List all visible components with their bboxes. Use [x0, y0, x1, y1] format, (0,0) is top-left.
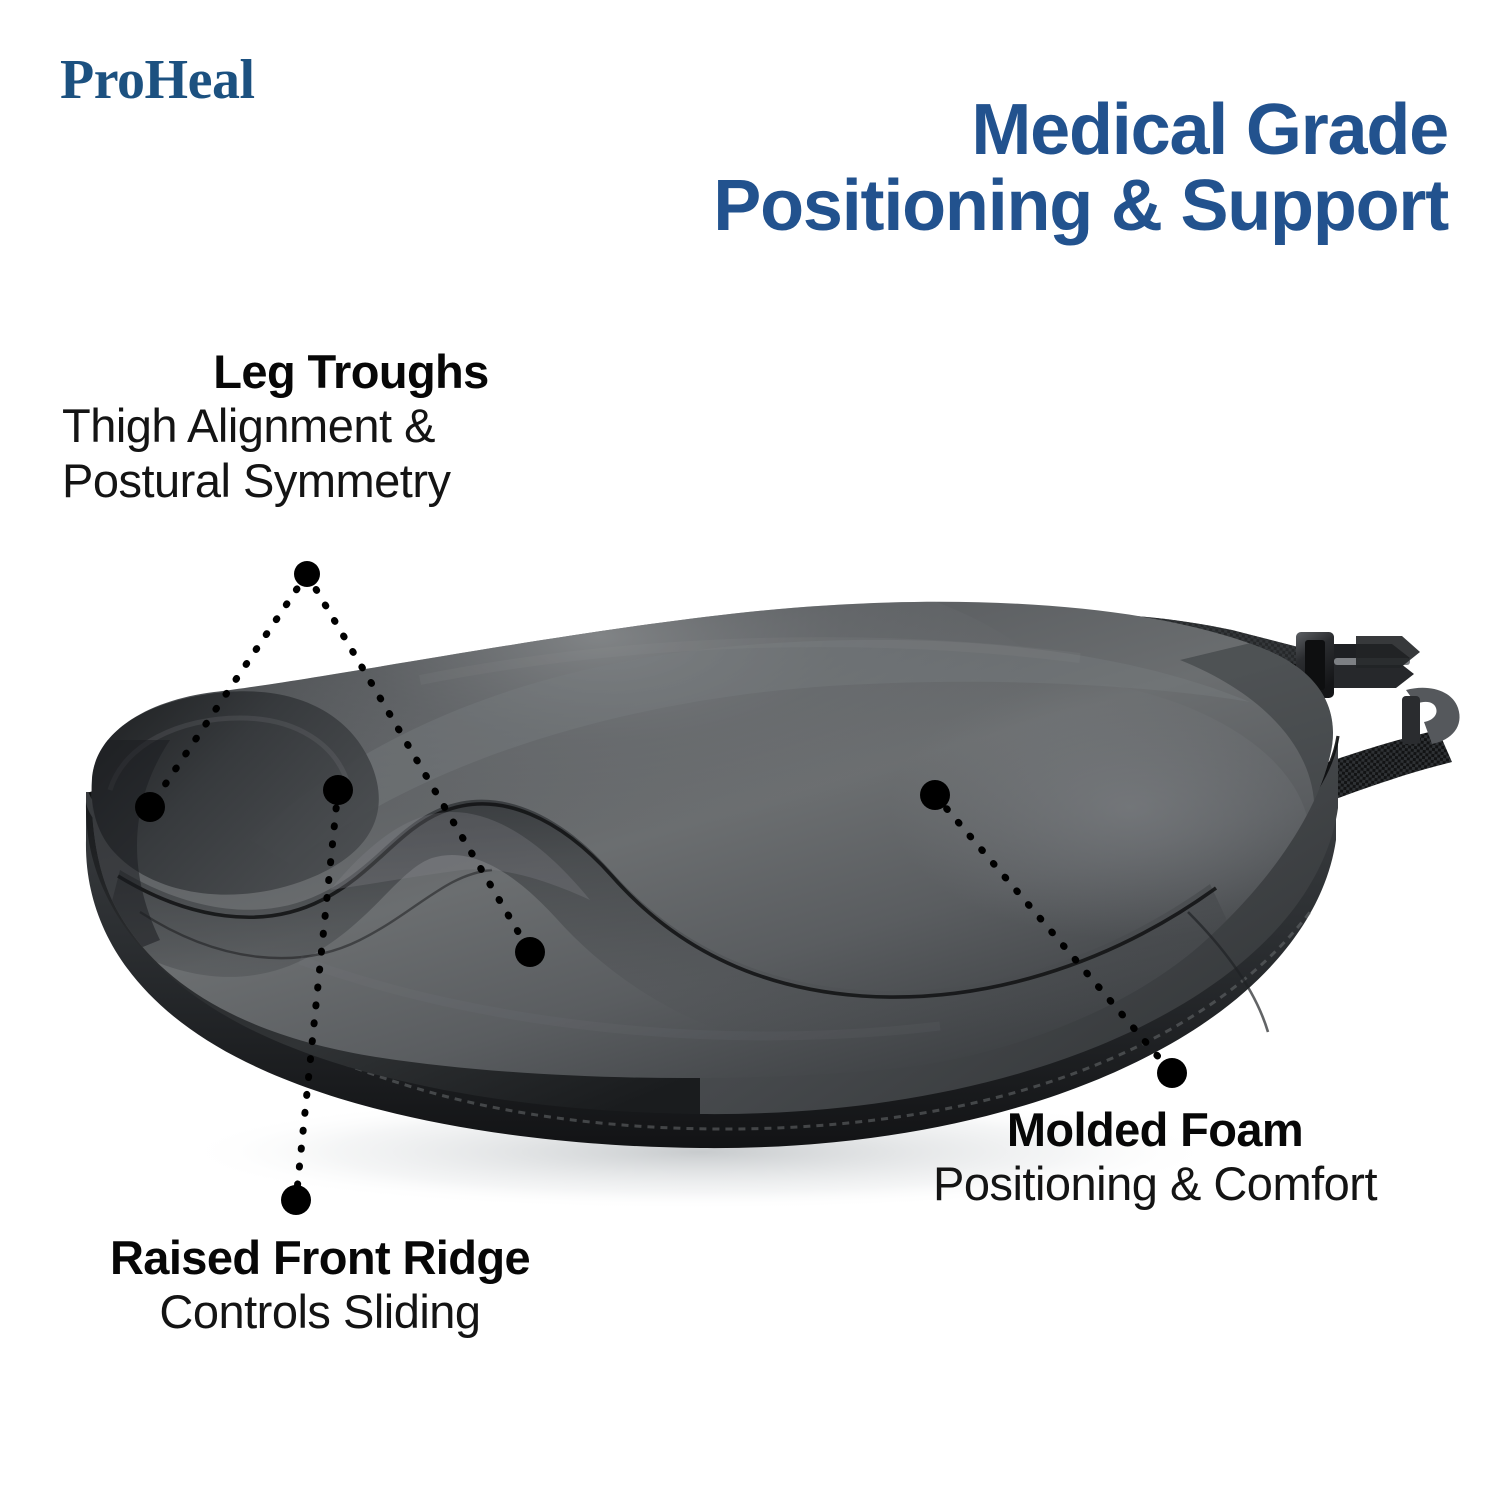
- callout-leg-troughs-subtitle-line-1: Thigh Alignment &: [62, 399, 622, 454]
- callout-raised-front-ridge-title: Raised Front Ridge: [24, 1232, 616, 1285]
- callout-molded-foam-title: Molded Foam: [830, 1104, 1480, 1157]
- callout-raised-front-ridge-subtitle: Controls Sliding: [24, 1285, 616, 1340]
- buckle-female: [1402, 688, 1460, 744]
- callout-leg-troughs-title: Leg Troughs: [62, 346, 622, 399]
- callout-molded-foam-subtitle-line-1: Positioning & Comfort: [830, 1157, 1480, 1212]
- page-title: Medical Grade Positioning & Support: [488, 92, 1448, 245]
- brand-logo: ProHeal: [60, 52, 255, 108]
- callout-raised-front-ridge-subtitle-line-1: Controls Sliding: [24, 1285, 616, 1340]
- callout-raised-front-ridge: Raised Front Ridge Controls Sliding: [24, 1232, 616, 1340]
- cushion-body: [86, 555, 1346, 1148]
- headline-line-2: Positioning & Support: [488, 168, 1448, 244]
- infographic-page: ProHeal Medical Grade Positioning & Supp…: [0, 0, 1500, 1500]
- callout-molded-foam-subtitle: Positioning & Comfort: [830, 1157, 1480, 1212]
- callout-leg-troughs-subtitle: Thigh Alignment & Postural Symmetry: [62, 399, 622, 509]
- callout-leg-troughs: Leg Troughs Thigh Alignment & Postural S…: [62, 346, 622, 509]
- headline-line-1: Medical Grade: [488, 92, 1448, 168]
- callout-molded-foam: Molded Foam Positioning & Comfort: [830, 1104, 1480, 1212]
- callout-leg-troughs-subtitle-line-2: Postural Symmetry: [62, 454, 622, 509]
